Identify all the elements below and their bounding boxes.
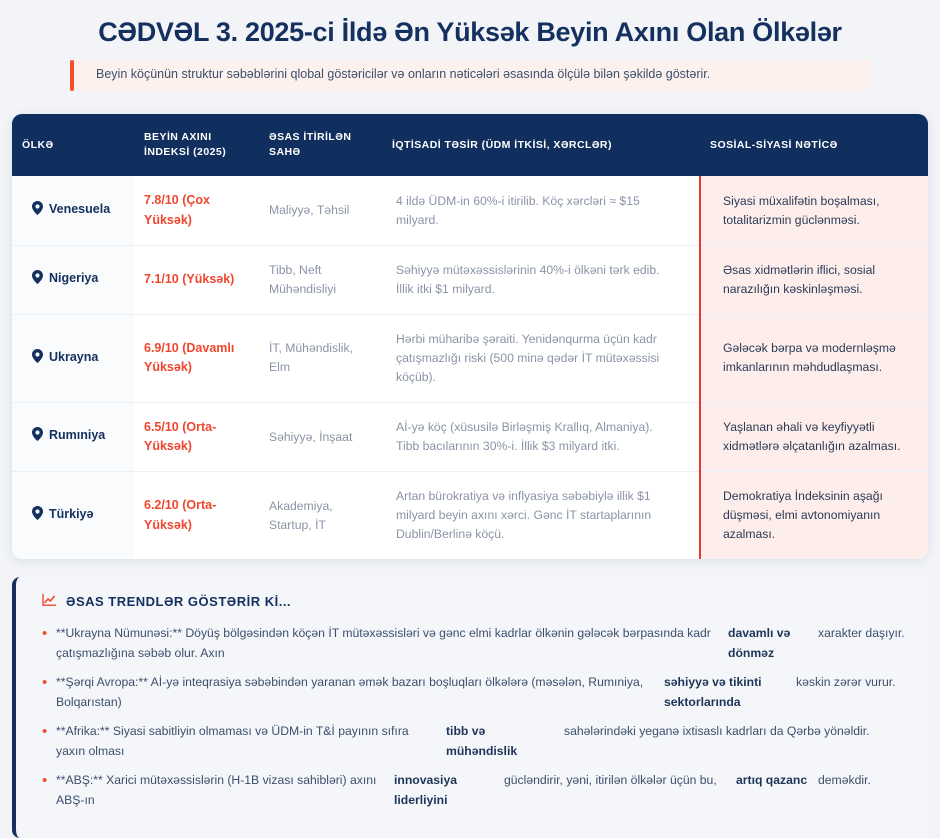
table-row: Nigeriya 7.1/10 (Yüksək) Tibb, Neft Mühə… [12, 246, 928, 315]
cell-country: Nigeriya [12, 246, 134, 315]
table-body: Venesuela 7.8/10 (Çox Yüksək) Maliyyə, T… [12, 176, 928, 559]
trend-segment-bold: innovasiya liderliyini [394, 771, 504, 810]
trend-segment: sahələrindəki yeganə ixtisaslı kadrları … [564, 722, 880, 742]
trend-text: **ABŞ:** Xarici mütəxəssislərin (H-1B vi… [56, 771, 910, 810]
bullet-icon: • [42, 772, 56, 790]
country-name: Rumıniya [49, 428, 105, 442]
map-pin-icon [32, 349, 43, 369]
cell-field: Səhiyyə, İnşaat [259, 402, 382, 472]
table-row: Ukrayna 6.9/10 (Davamlı Yüksək) İT, Mühə… [12, 314, 928, 402]
trend-chart-icon [42, 593, 57, 610]
trend-segment: deməkdir. [818, 771, 881, 791]
country-name: Türkiyə [49, 507, 93, 521]
column-header-economic: İQTİSADİ TƏSİR (ÜDM İTKİSİ, XƏRCLƏR) [382, 114, 700, 176]
trend-segment-bold: tibb və mühəndislik [446, 722, 564, 761]
map-pin-icon [32, 201, 43, 221]
cell-social: Siyasi müxalifətin boşalması, totalitari… [700, 176, 928, 245]
cell-field: Maliyyə, Təhsil [259, 176, 382, 245]
country-name: Nigeriya [49, 271, 98, 285]
cell-country: Rumıniya [12, 402, 134, 472]
trend-text: **Şərqi Avropa:** Aİ-yə inteqrasiya səbə… [56, 673, 910, 712]
cell-field: Akademiya, Startup, İT [259, 472, 382, 559]
trend-list-item: • **Ukrayna Nümunəsi:** Döyüş bölgəsində… [34, 624, 910, 663]
cell-economic: 4 ildə ÜDM-in 60%-i itirilib. Köç xərclə… [382, 176, 700, 245]
map-pin-icon [32, 506, 43, 526]
subtitle-text: Beyin köçünün struktur səbəblərini qloba… [74, 60, 724, 91]
trend-text: **Ukrayna Nümunəsi:** Döyüş bölgəsindən … [56, 624, 910, 663]
column-header-field: ƏSAS İTİRİLƏN SAHƏ [259, 114, 382, 176]
trend-segment-bold: davamlı və dönməz [728, 624, 818, 663]
cell-country: Türkiyə [12, 472, 134, 559]
cell-field: İT, Mühəndislik, Elm [259, 314, 382, 402]
country-name: Ukrayna [49, 350, 98, 364]
map-pin-icon [32, 270, 43, 290]
cell-index: 7.8/10 (Çox Yüksək) [134, 176, 259, 245]
table-header: ÖLKƏ BEYİN AXINI İNDEKSİ (2025) ƏSAS İTİ… [12, 114, 928, 176]
trend-segment: **Ukrayna Nümunəsi:** Döyüş bölgəsindən … [56, 624, 728, 663]
trend-list-item: • **Afrika:** Siyasi sabitliyin olmaması… [34, 722, 910, 761]
trend-segment: **Afrika:** Siyasi sabitliyin olmaması v… [56, 722, 446, 761]
trend-text: **Afrika:** Siyasi sabitliyin olmaması v… [56, 722, 910, 761]
trends-panel: ƏSAS TRENDLƏR GÖSTƏRİR Kİ... • **Ukrayna… [12, 577, 928, 838]
trend-segment: kəskin zərər vurur. [796, 673, 906, 693]
cell-index: 6.9/10 (Davamlı Yüksək) [134, 314, 259, 402]
trend-list-item: • **ABŞ:** Xarici mütəxəssislərin (H-1B … [34, 771, 910, 810]
column-header-index: BEYİN AXINI İNDEKSİ (2025) [134, 114, 259, 176]
trend-segment-bold: artıq qazanc [736, 771, 818, 791]
subtitle-banner: Beyin köçünün struktur səbəblərini qloba… [70, 60, 870, 91]
cell-economic: Səhiyyə mütəxəssislərinin 40%-i ölkəni t… [382, 246, 700, 315]
cell-economic: Aİ-yə köç (xüsusilə Birləşmiş Krallıq, A… [382, 402, 700, 472]
bullet-icon: • [42, 625, 56, 643]
trend-segment-bold: səhiyyə və tikinti sektorlarında [664, 673, 796, 712]
page-title: CƏDVƏL 3. 2025-ci İldə Ən Yüksək Beyin A… [20, 16, 920, 48]
trend-segment: **ABŞ:** Xarici mütəxəssislərin (H-1B vi… [56, 771, 394, 810]
bullet-icon: • [42, 674, 56, 692]
cell-social: Əsas xidmətlərin iflici, sosial narazılı… [700, 246, 928, 315]
trend-list-item: • **Şərqi Avropa:** Aİ-yə inteqrasiya sə… [34, 673, 910, 712]
cell-index: 6.5/10 (Orta-Yüksək) [134, 402, 259, 472]
trends-title-row: ƏSAS TRENDLƏR GÖSTƏRİR Kİ... [34, 593, 910, 610]
page-header: CƏDVƏL 3. 2025-ci İldə Ən Yüksək Beyin A… [0, 0, 940, 91]
table-row: Türkiyə 6.2/10 (Orta-Yüksək) Akademiya, … [12, 472, 928, 559]
country-name: Venesuela [49, 202, 110, 216]
cell-social: Gələcək bərpa və modernləşmə imkanlarını… [700, 314, 928, 402]
cell-index: 6.2/10 (Orta-Yüksək) [134, 472, 259, 559]
cell-index: 7.1/10 (Yüksək) [134, 246, 259, 315]
bullet-icon: • [42, 723, 56, 741]
trend-segment: gücləndirir, yəni, itirilən ölkələr üçün… [504, 771, 736, 791]
map-pin-icon [32, 427, 43, 447]
trend-segment: **Şərqi Avropa:** Aİ-yə inteqrasiya səbə… [56, 673, 664, 712]
table-header-row: ÖLKƏ BEYİN AXINI İNDEKSİ (2025) ƏSAS İTİ… [12, 114, 928, 176]
trend-segment: xarakter daşıyır. [818, 624, 915, 644]
cell-economic: Hərbi müharibə şəraiti. Yenidənqurma üçü… [382, 314, 700, 402]
trends-title-text: ƏSAS TRENDLƏR GÖSTƏRİR Kİ... [66, 594, 291, 609]
cell-country: Ukrayna [12, 314, 134, 402]
cell-social: Demokratiya İndeksinin aşağı düşməsi, el… [700, 472, 928, 559]
column-header-country: ÖLKƏ [12, 114, 134, 176]
table-row: Rumıniya 6.5/10 (Orta-Yüksək) Səhiyyə, İ… [12, 402, 928, 472]
table-row: Venesuela 7.8/10 (Çox Yüksək) Maliyyə, T… [12, 176, 928, 245]
cell-social: Yaşlanan əhali və keyfiyyətli xidmətlərə… [700, 402, 928, 472]
column-header-social: SOSİAL-SİYASİ NƏTİCƏ [700, 114, 928, 176]
cell-country: Venesuela [12, 176, 134, 245]
cell-economic: Artan bürokratiya və inflyasiya səbəbiyl… [382, 472, 700, 559]
cell-field: Tibb, Neft Mühəndisliyi [259, 246, 382, 315]
brain-drain-table: ÖLKƏ BEYİN AXINI İNDEKSİ (2025) ƏSAS İTİ… [12, 114, 928, 559]
brain-drain-table-card: ÖLKƏ BEYİN AXINI İNDEKSİ (2025) ƏSAS İTİ… [12, 114, 928, 559]
